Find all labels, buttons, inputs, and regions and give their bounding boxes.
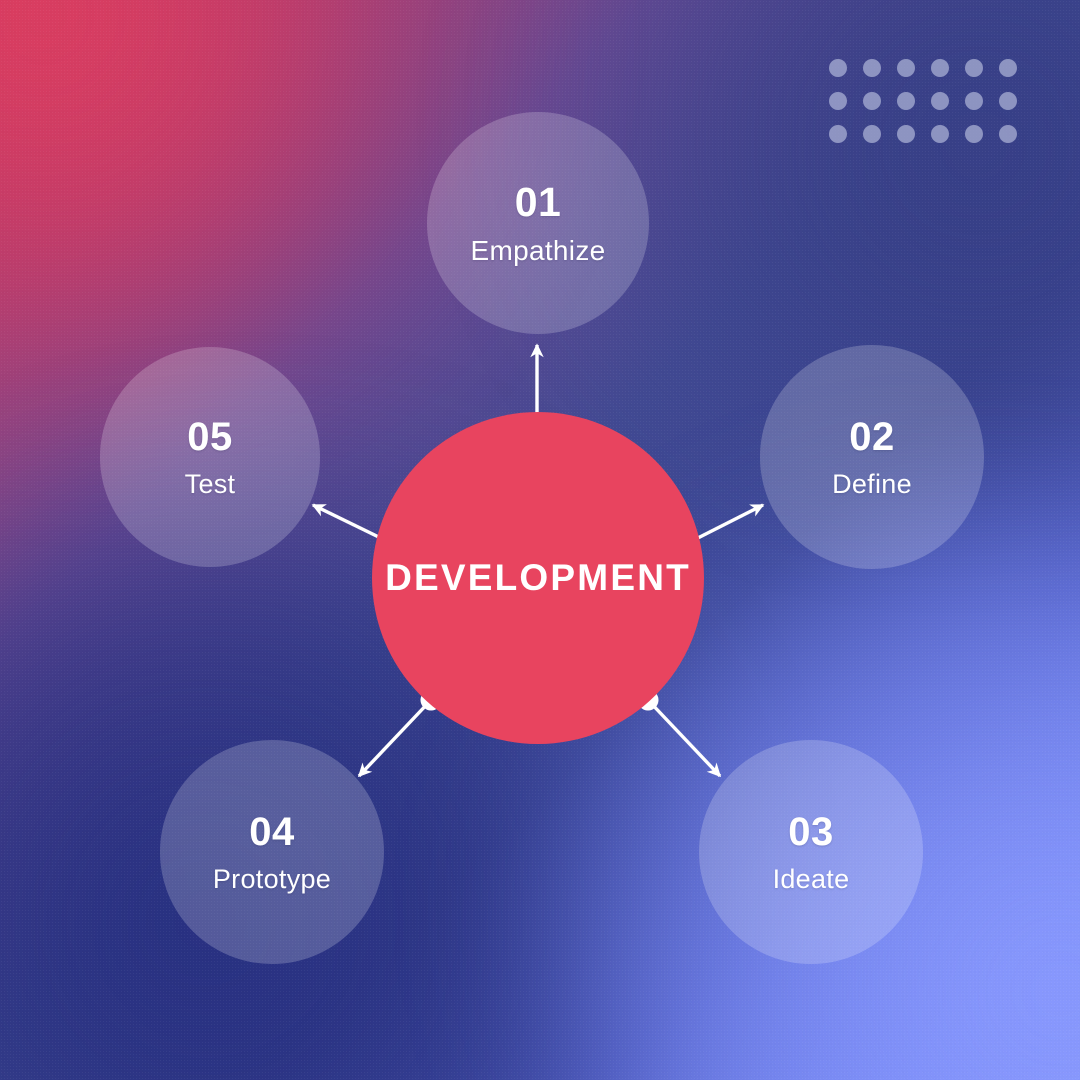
- infographic-canvas: 01 Empathize 02 Define 03 Ideate 04 Prot…: [0, 0, 1080, 1080]
- step-node-empathize[interactable]: 01 Empathize: [427, 112, 649, 334]
- center-hub-label: DEVELOPMENT: [385, 557, 691, 599]
- grid-dot: [863, 125, 881, 143]
- step-node-ideate[interactable]: 03 Ideate: [699, 740, 923, 964]
- step-number: 05: [187, 417, 233, 457]
- grid-dot: [829, 92, 847, 110]
- step-label: Ideate: [773, 866, 850, 893]
- step-number: 02: [849, 417, 895, 457]
- grid-dot: [863, 59, 881, 77]
- grid-dot: [999, 59, 1017, 77]
- grid-dot: [931, 125, 949, 143]
- grid-dot: [965, 125, 983, 143]
- dot-grid-decoration: [829, 59, 1017, 143]
- grid-dot: [999, 125, 1017, 143]
- grid-dot: [931, 59, 949, 77]
- grid-dot: [931, 92, 949, 110]
- step-number: 03: [788, 812, 834, 852]
- step-node-define[interactable]: 02 Define: [760, 345, 984, 569]
- step-label: Define: [832, 471, 912, 498]
- center-hub[interactable]: DEVELOPMENT: [372, 412, 704, 744]
- step-number: 04: [249, 812, 295, 852]
- step-node-test[interactable]: 05 Test: [100, 347, 320, 567]
- grid-dot: [829, 59, 847, 77]
- grid-dot: [863, 92, 881, 110]
- grid-dot: [897, 59, 915, 77]
- step-label: Empathize: [471, 237, 606, 265]
- grid-dot: [897, 92, 915, 110]
- step-node-prototype[interactable]: 04 Prototype: [160, 740, 384, 964]
- grid-dot: [897, 125, 915, 143]
- step-label: Prototype: [213, 866, 331, 893]
- grid-dot: [999, 92, 1017, 110]
- step-label: Test: [185, 471, 236, 498]
- step-number: 01: [515, 182, 562, 223]
- grid-dot: [829, 125, 847, 143]
- grid-dot: [965, 92, 983, 110]
- grid-dot: [965, 59, 983, 77]
